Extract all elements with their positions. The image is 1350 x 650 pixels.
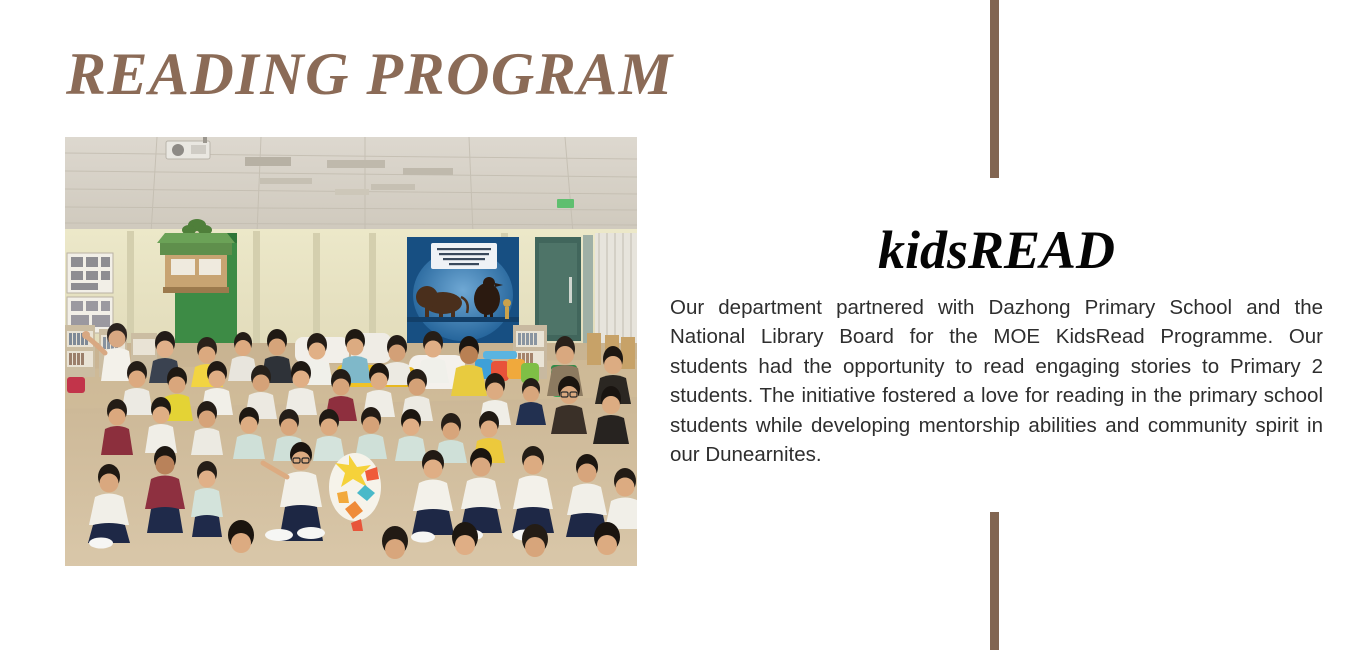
body-paragraph: Our department partnered with Dazhong Pr…	[670, 293, 1323, 470]
section-heading-kidsread: kidsREAD	[670, 222, 1323, 279]
group-photo-illustration	[65, 137, 637, 566]
slide-canvas: READING PROGRAM	[0, 0, 1350, 650]
vertical-accent-bar-bottom	[990, 512, 999, 650]
content-column: kidsREAD Our department partnered with D…	[670, 222, 1323, 470]
group-photo	[65, 137, 637, 566]
page-title: READING PROGRAM	[66, 44, 674, 104]
vertical-accent-bar-top	[990, 0, 999, 178]
